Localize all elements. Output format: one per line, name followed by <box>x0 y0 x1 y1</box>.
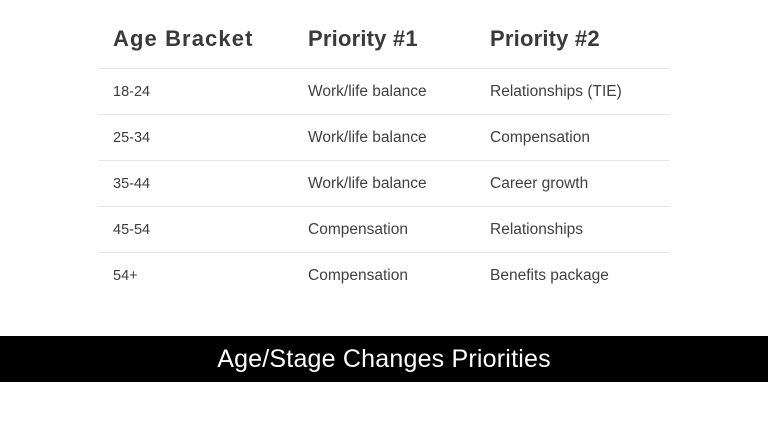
cell-age-bracket: 18-24 <box>98 69 308 115</box>
slide-canvas: Age Bracket Priority #1 Priority #2 18-2… <box>0 0 768 432</box>
cell-priority-1: Compensation <box>308 207 490 253</box>
cell-priority-2: Benefits package <box>490 253 670 299</box>
table-row: 18-24 Work/life balance Relationships (T… <box>98 69 670 115</box>
footer-title: Age/Stage Changes Priorities <box>217 347 551 372</box>
column-header-priority-2: Priority #2 <box>490 26 670 69</box>
priorities-table-container: Age Bracket Priority #1 Priority #2 18-2… <box>98 26 670 298</box>
cell-priority-1: Compensation <box>308 253 490 299</box>
cell-priority-2: Compensation <box>490 115 670 161</box>
footer-banner: Age/Stage Changes Priorities <box>0 336 768 382</box>
cell-age-bracket: 45-54 <box>98 207 308 253</box>
cell-priority-1: Work/life balance <box>308 161 490 207</box>
table-row: 45-54 Compensation Relationships <box>98 207 670 253</box>
cell-priority-1: Work/life balance <box>308 69 490 115</box>
column-header-priority-1: Priority #1 <box>308 26 490 69</box>
table-row: 25-34 Work/life balance Compensation <box>98 115 670 161</box>
cell-priority-1: Work/life balance <box>308 115 490 161</box>
table-row: 35-44 Work/life balance Career growth <box>98 161 670 207</box>
priorities-table: Age Bracket Priority #1 Priority #2 18-2… <box>98 26 670 298</box>
cell-priority-2: Relationships (TIE) <box>490 69 670 115</box>
table-row: 54+ Compensation Benefits package <box>98 253 670 299</box>
column-header-age-bracket: Age Bracket <box>98 26 308 69</box>
cell-priority-2: Career growth <box>490 161 670 207</box>
table-body: 18-24 Work/life balance Relationships (T… <box>98 69 670 299</box>
table-header-row: Age Bracket Priority #1 Priority #2 <box>98 26 670 69</box>
cell-age-bracket: 25-34 <box>98 115 308 161</box>
cell-age-bracket: 35-44 <box>98 161 308 207</box>
cell-age-bracket: 54+ <box>98 253 308 299</box>
cell-priority-2: Relationships <box>490 207 670 253</box>
table-header: Age Bracket Priority #1 Priority #2 <box>98 26 670 69</box>
